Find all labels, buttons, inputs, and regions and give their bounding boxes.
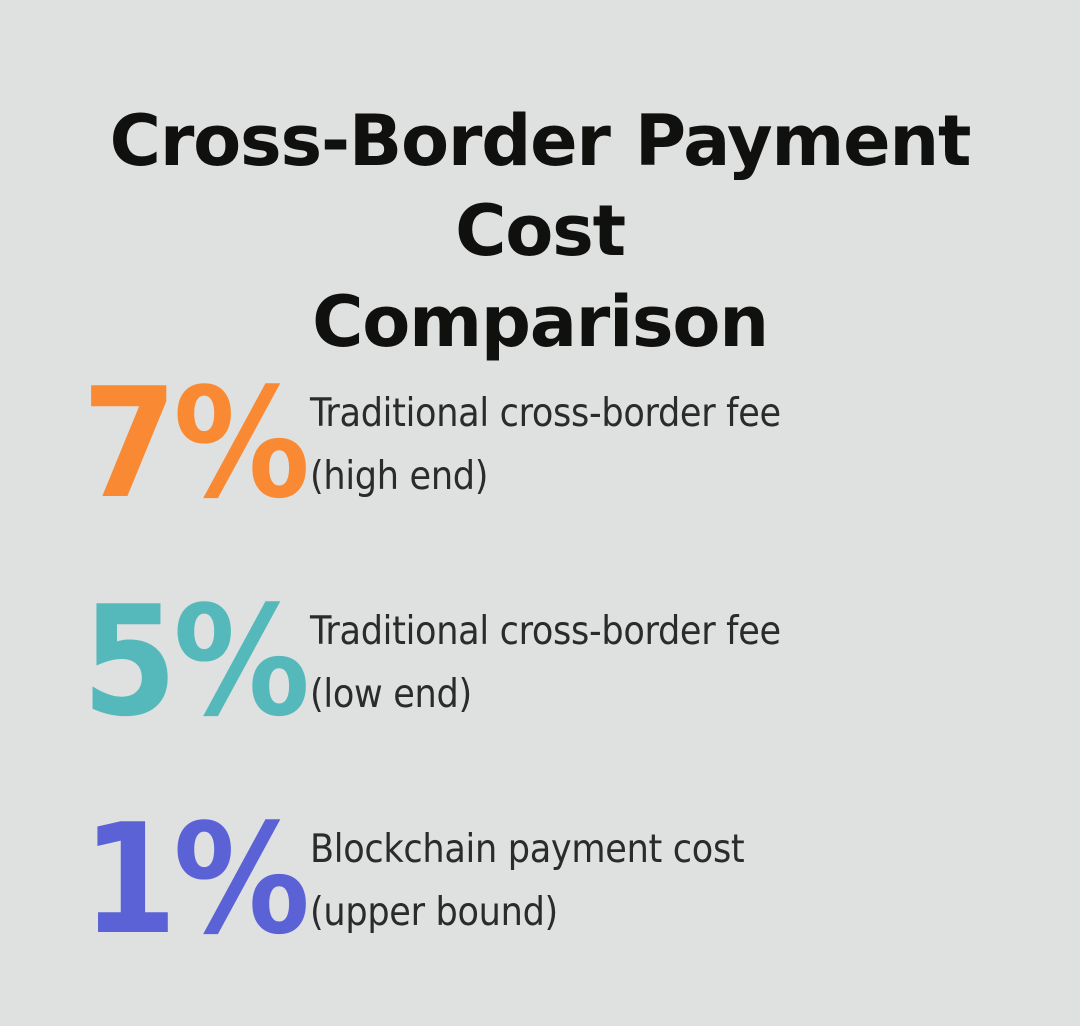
page-title-line-1: Cross-Border Payment Cost <box>40 96 1040 277</box>
stat-label-1: Traditional cross-border fee (high end) <box>310 362 1080 508</box>
statistics-list: 7% Traditional cross-border fee (high en… <box>0 362 1080 1016</box>
stat-label-3-line-2: (upper bound) <box>310 881 1030 944</box>
page-title-line-2: Comparison <box>40 277 1040 367</box>
page-title: Cross-Border Payment Cost Comparison <box>40 96 1040 367</box>
stat-label-2: Traditional cross-border fee (low end) <box>310 580 1080 726</box>
stat-row: 1% Blockchain payment cost (upper bound) <box>0 798 1080 1016</box>
stat-label-2-line-1: Traditional cross-border fee <box>310 600 1030 663</box>
stat-label-1-line-1: Traditional cross-border fee <box>310 382 1030 445</box>
stat-row: 5% Traditional cross-border fee (low end… <box>0 580 1080 798</box>
stat-row: 7% Traditional cross-border fee (high en… <box>0 362 1080 580</box>
stat-value-1: 7% <box>0 368 310 520</box>
stat-value-2: 5% <box>0 586 310 738</box>
infographic-canvas: Cross-Border Payment Cost Comparison 7% … <box>0 0 1080 1026</box>
stat-label-1-line-2: (high end) <box>310 445 1030 508</box>
stat-value-3: 1% <box>0 804 310 956</box>
stat-label-3-line-1: Blockchain payment cost <box>310 818 1030 881</box>
stat-label-2-line-2: (low end) <box>310 663 1030 726</box>
stat-label-3: Blockchain payment cost (upper bound) <box>310 798 1080 944</box>
